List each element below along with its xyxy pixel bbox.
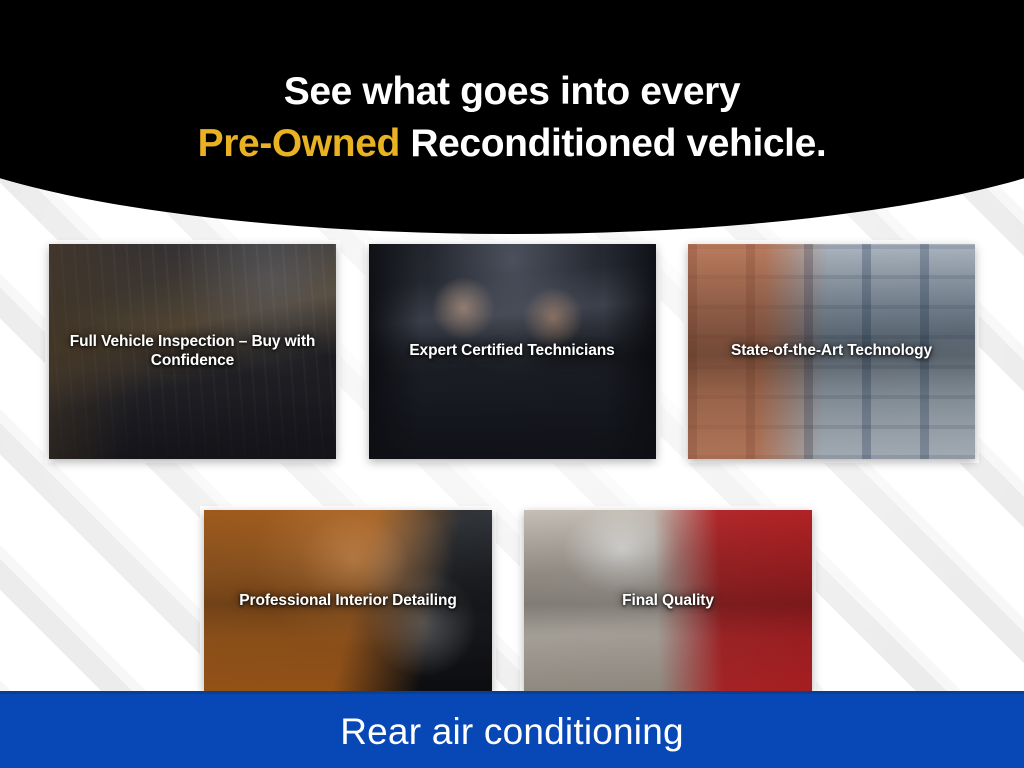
bottom-banner: Rear air conditioning (0, 691, 1024, 768)
headline-accent-pre-owned: Pre-Owned (198, 122, 400, 165)
bottom-banner-text: Rear air conditioning (340, 713, 684, 750)
page-title: See what goes into every Pre-Owned Recon… (198, 66, 827, 170)
feature-card-caption: State-of-the-Art Technology (725, 342, 938, 361)
feature-cards-top-row: Full Vehicle Inspection – Buy with Confi… (49, 244, 975, 459)
headline-line-2-rest: Reconditioned vehicle. (400, 122, 826, 165)
feature-card-interior-detailing[interactable]: Professional Interior Detailing (204, 510, 492, 692)
feature-card-full-inspection[interactable]: Full Vehicle Inspection – Buy with Confi… (49, 244, 336, 459)
feature-card-certified-technicians[interactable]: Expert Certified Technicians (369, 244, 656, 459)
slide-root: See what goes into every Pre-Owned Recon… (0, 0, 1024, 768)
feature-card-final-quality[interactable]: Final Quality (524, 510, 812, 692)
header-content: See what goes into every Pre-Owned Recon… (0, 0, 1024, 234)
header-band: See what goes into every Pre-Owned Recon… (0, 0, 1024, 234)
feature-card-caption: Professional Interior Detailing (233, 592, 462, 611)
feature-card-caption: Full Vehicle Inspection – Buy with Confi… (49, 333, 336, 371)
feature-card-state-of-the-art-technology[interactable]: State-of-the-Art Technology (688, 244, 975, 459)
headline-line-1: See what goes into every (284, 70, 740, 113)
feature-card-caption: Expert Certified Technicians (403, 342, 620, 361)
feature-cards-bottom-row: Professional Interior Detailing Final Qu… (204, 510, 812, 692)
feature-card-caption: Final Quality (616, 592, 720, 611)
